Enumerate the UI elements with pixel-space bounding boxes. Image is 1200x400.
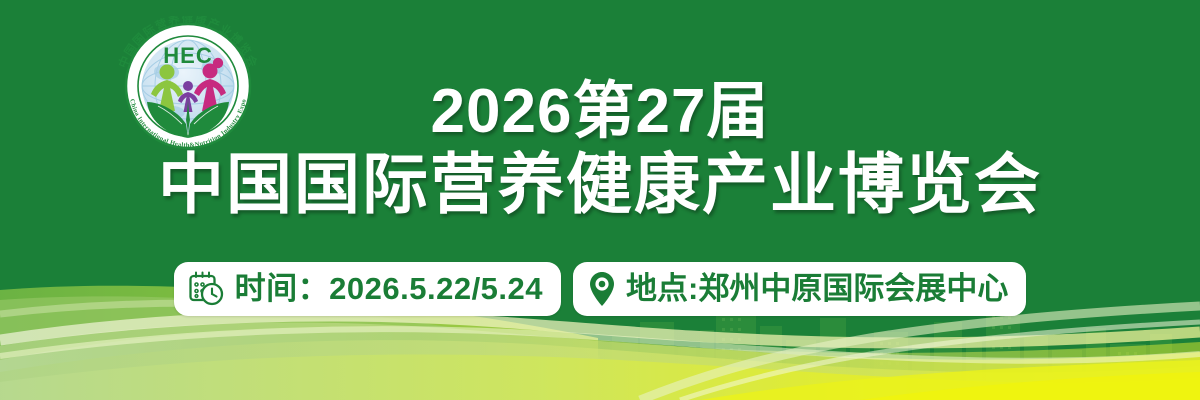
- date-pill: 时间：2026.5.22/5.24: [174, 262, 561, 316]
- info-row: 时间：2026.5.22/5.24 地点:郑州中原国际会展中心: [0, 262, 1200, 316]
- expo-banner: 中国国际营养健康产业博览会 China International Health…: [0, 0, 1200, 400]
- date-text: 时间：2026.5.22/5.24: [235, 272, 543, 306]
- location-pin-icon: [587, 270, 617, 308]
- logo-hec-text: HEC: [163, 43, 212, 68]
- venue-text: 地点:郑州中原国际会展中心: [626, 272, 1008, 306]
- calendar-clock-icon: [188, 270, 226, 308]
- venue-pill: 地点:郑州中原国际会展中心: [573, 262, 1026, 316]
- expo-logo: 中国国际营养健康产业博览会 China International Health…: [103, 16, 273, 156]
- title-line-2: 中国国际营养健康产业博览会: [0, 147, 1200, 221]
